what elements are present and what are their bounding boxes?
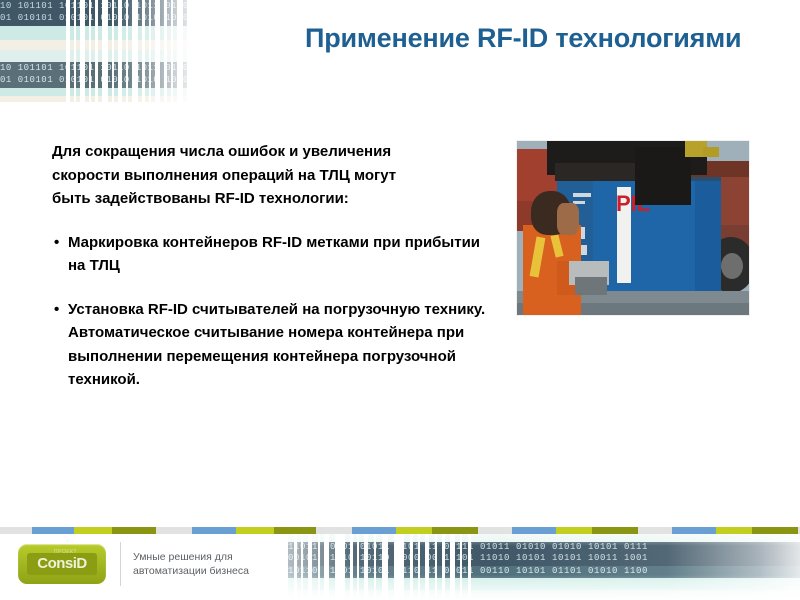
container-marking-label: PIL [616, 189, 632, 283]
list-item-label: Маркировка контейнеров RF-ID метками при… [68, 231, 497, 278]
bullet-icon: • [54, 298, 59, 322]
barcode-binary-graphic: 10 101101 101101 10110 1011 0110 01 0101… [0, 0, 200, 102]
list-item: • Установка RF-ID считывателей на погруз… [52, 298, 497, 392]
footer-tagline: Умные решения для автоматизации бизнеса [133, 550, 283, 578]
slide-body: Для сокращения числа ошибок и увеличения… [52, 140, 497, 412]
logo-plate: ConsiD [27, 553, 97, 575]
bullet-icon: • [54, 231, 59, 255]
page-title: Применение RF-ID технологиями [305, 22, 775, 54]
container-rfid-photo: PIL [516, 140, 750, 316]
logo-superscript: ПРОЕКТ [54, 549, 77, 555]
logo-text: ConsiD [27, 553, 97, 575]
tagline-line-1: Умные решения для [133, 550, 283, 564]
footer-barcode-binary-graphic: 11011 10101 01011 0101 11 00111 01011 01… [288, 534, 800, 600]
footer-divider [120, 542, 121, 586]
tagline-line-2: автоматизации бизнеса [133, 564, 283, 578]
deco-fade-overlay [0, 0, 200, 102]
consid-logo: ConsiD ПРОЕКТ [18, 544, 106, 584]
slide-footer: ConsiD ПРОЕКТ Умные решения для автомати… [0, 534, 800, 600]
slide-root: 10 101101 101101 10110 1011 0110 01 0101… [0, 0, 800, 600]
intro-paragraph: Для сокращения числа ошибок и увеличения… [52, 140, 402, 211]
list-item-label: Установка RF-ID считывателей на погрузоч… [68, 298, 497, 392]
footer-color-rule [0, 527, 800, 534]
list-item: • Маркировка контейнеров RF-ID метками п… [52, 231, 497, 278]
